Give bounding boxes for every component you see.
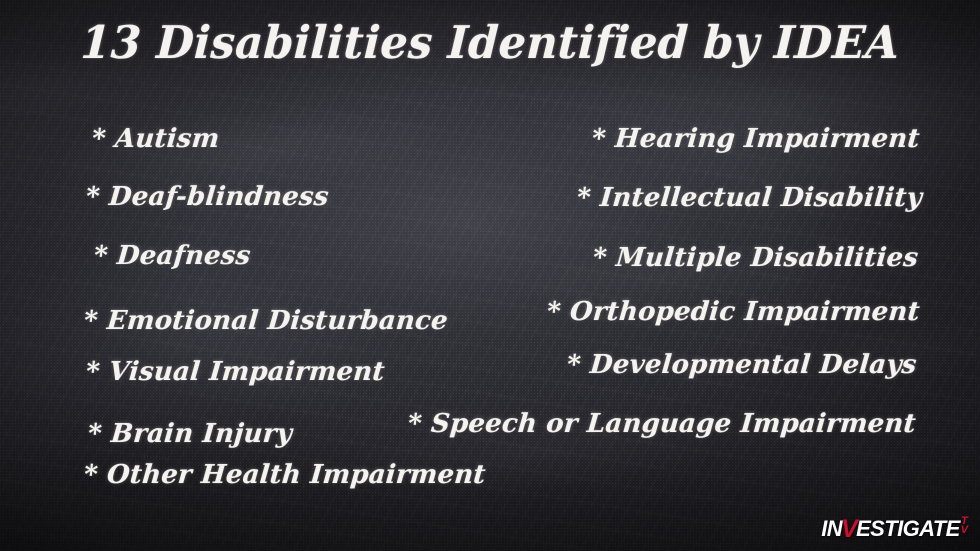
logo-tv-v: V: [961, 526, 968, 535]
list-item: * Developmental Delays: [565, 352, 917, 379]
list-item: * Autism: [91, 126, 221, 153]
list-item: * Emotional Disturbance: [83, 308, 449, 335]
list-item: * Speech or Language Impairment: [407, 411, 917, 438]
list-item: * Other Health Impairment: [83, 462, 487, 489]
list-item: * Brain Injury: [87, 421, 293, 448]
logo-text-in: IN: [821, 518, 842, 540]
list-item: * Deafness: [93, 243, 252, 270]
logo-text-estigate: ESTIGATE: [856, 518, 960, 540]
slide-title: 13 Disabilities Identified by IDEA: [18, 18, 961, 68]
logo-tv-mark: T V: [961, 517, 968, 534]
logo-accent-v: V: [841, 517, 857, 542]
list-item: * Orthopedic Impairment: [546, 299, 921, 326]
list-item: * Hearing Impairment: [591, 126, 921, 153]
logo-wordmark: IN V ESTIGATE: [821, 516, 959, 541]
list-item: * Visual Impairment: [85, 359, 386, 386]
list-item: * Intellectual Disability: [576, 185, 923, 212]
investigate-tv-logo: IN V ESTIGATE T V: [821, 513, 968, 543]
list-item: * Multiple Disabilities: [592, 245, 920, 272]
disability-list-right-column: * Hearing Impairment * Intellectual Disa…: [452, 126, 922, 439]
list-item: * Deaf-blindness: [85, 184, 330, 211]
chalkboard-slide: 13 Disabilities Identified by IDEA * Aut…: [0, 0, 980, 551]
